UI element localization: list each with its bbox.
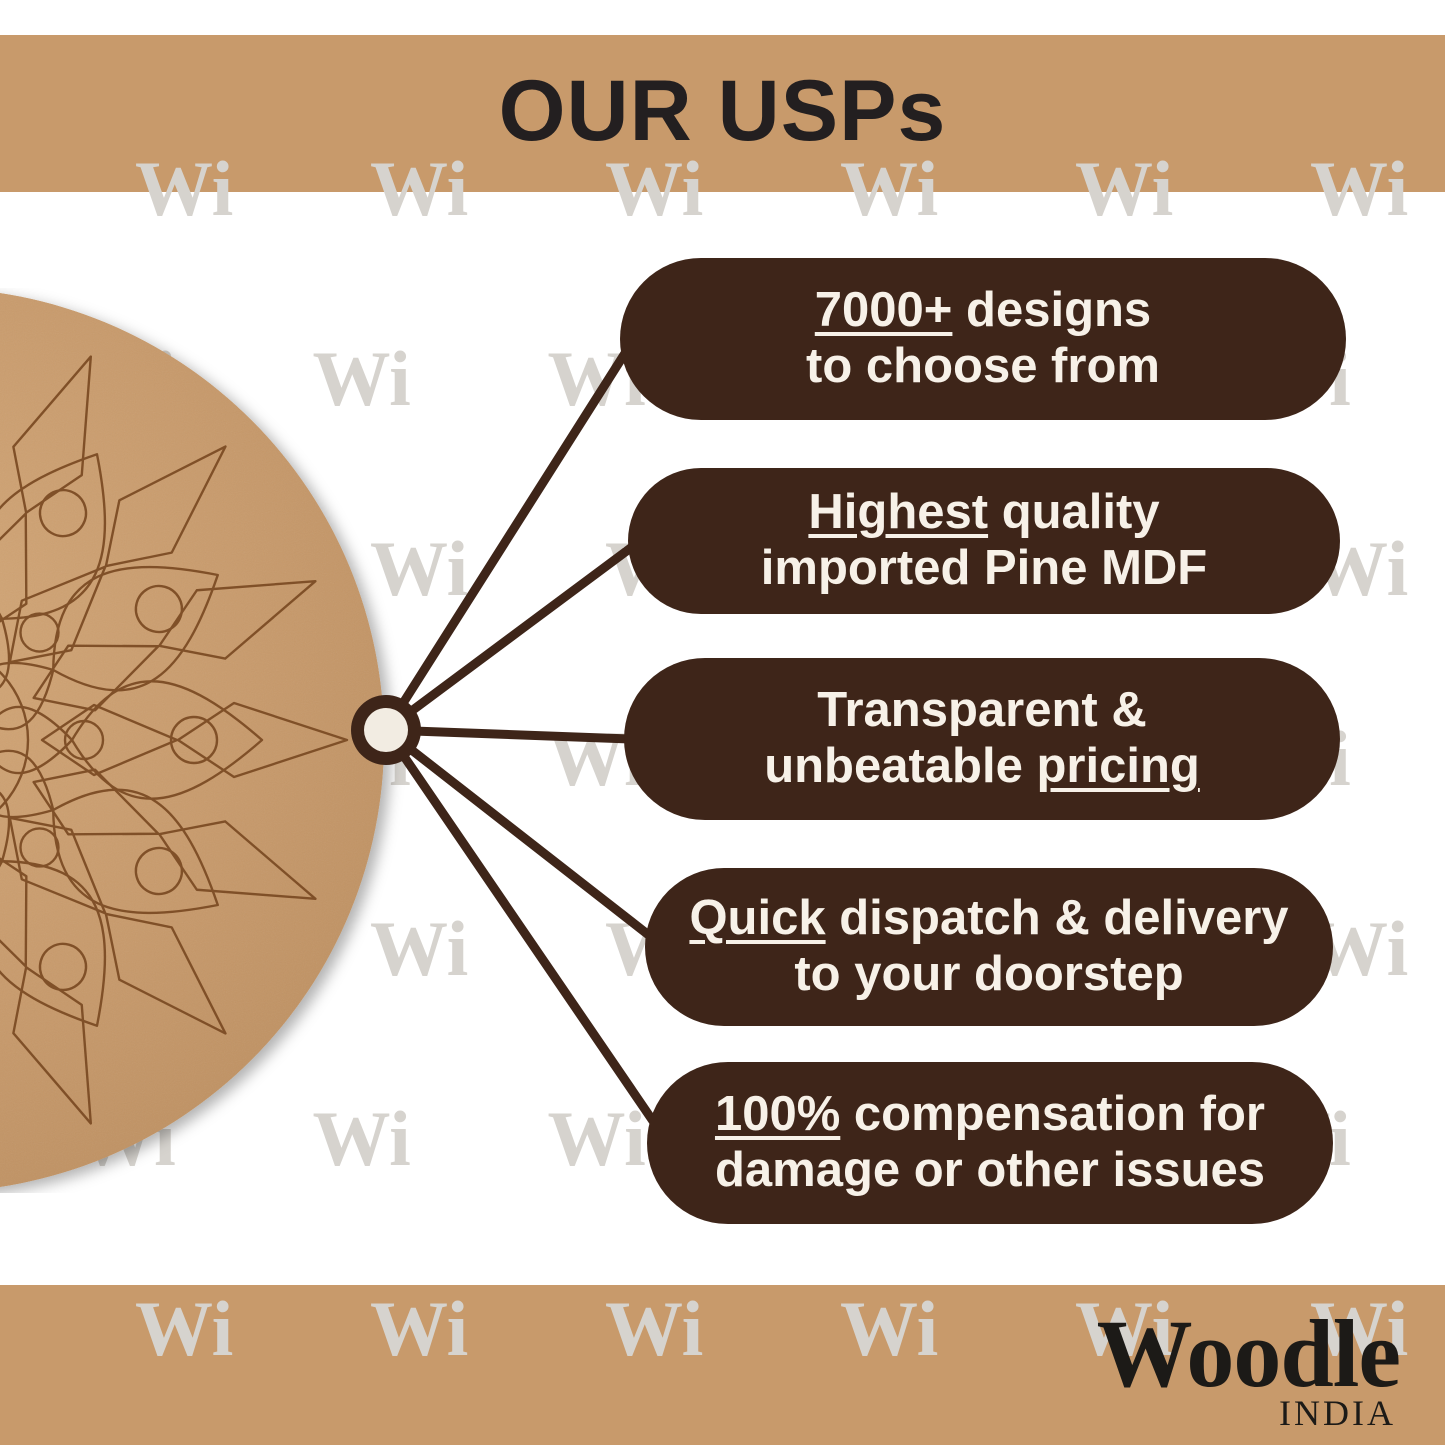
- infographic-canvas: WiWiWiWiWiWiWiWiWiWiWiWiWiWiWiWiWiWiWiWi…: [0, 0, 1445, 1445]
- watermark-wi: Wi: [548, 1100, 646, 1178]
- usp-highlight: 100%: [715, 1087, 840, 1141]
- usp-line-2: to choose from: [806, 339, 1160, 395]
- mandala-wooden-disc: [0, 288, 425, 1193]
- usp-highlight: 7000+: [815, 283, 953, 337]
- usp-line-1-rest: dispatch & delivery: [826, 891, 1289, 945]
- brand-logo: Woodle INDIA: [1097, 1310, 1400, 1434]
- usp-highlight: pricing: [1036, 739, 1199, 793]
- usp-card-dispatch[interactable]: Quick dispatch & delivery to your doorst…: [645, 868, 1333, 1026]
- usp-line-1-rest: designs: [952, 283, 1151, 337]
- usp-line-1: 7000+ designs: [806, 283, 1160, 339]
- usp-line-1-rest: compensation for: [840, 1087, 1265, 1141]
- brand-name: Woodle: [1097, 1310, 1400, 1398]
- usp-line-1: Quick dispatch & delivery: [689, 891, 1288, 947]
- usp-line-2: to your doorstep: [689, 947, 1288, 1003]
- usp-line-2: imported Pine MDF: [761, 541, 1207, 597]
- usp-line-1-rest: quality: [988, 485, 1160, 539]
- usp-card-designs[interactable]: 7000+ designs to choose from: [620, 258, 1346, 420]
- usp-highlight: Quick: [689, 891, 825, 945]
- usp-line-2: damage or other issues: [715, 1143, 1265, 1199]
- usp-line-2: unbeatable pricing: [764, 739, 1200, 795]
- usp-highlight: Highest: [808, 485, 988, 539]
- usp-line-1: Transparent &: [764, 683, 1200, 739]
- usp-card-quality[interactable]: Highest quality imported Pine MDF: [628, 468, 1340, 614]
- usp-card-pricing[interactable]: Transparent & unbeatable pricing: [624, 658, 1340, 820]
- usp-line-2-pre: unbeatable: [764, 739, 1036, 793]
- usp-card-compensation[interactable]: 100% compensation for damage or other is…: [647, 1062, 1333, 1224]
- usp-line-1: 100% compensation for: [715, 1087, 1265, 1143]
- page-title: OUR USPs: [0, 35, 1445, 192]
- usp-line-1: Highest quality: [761, 485, 1207, 541]
